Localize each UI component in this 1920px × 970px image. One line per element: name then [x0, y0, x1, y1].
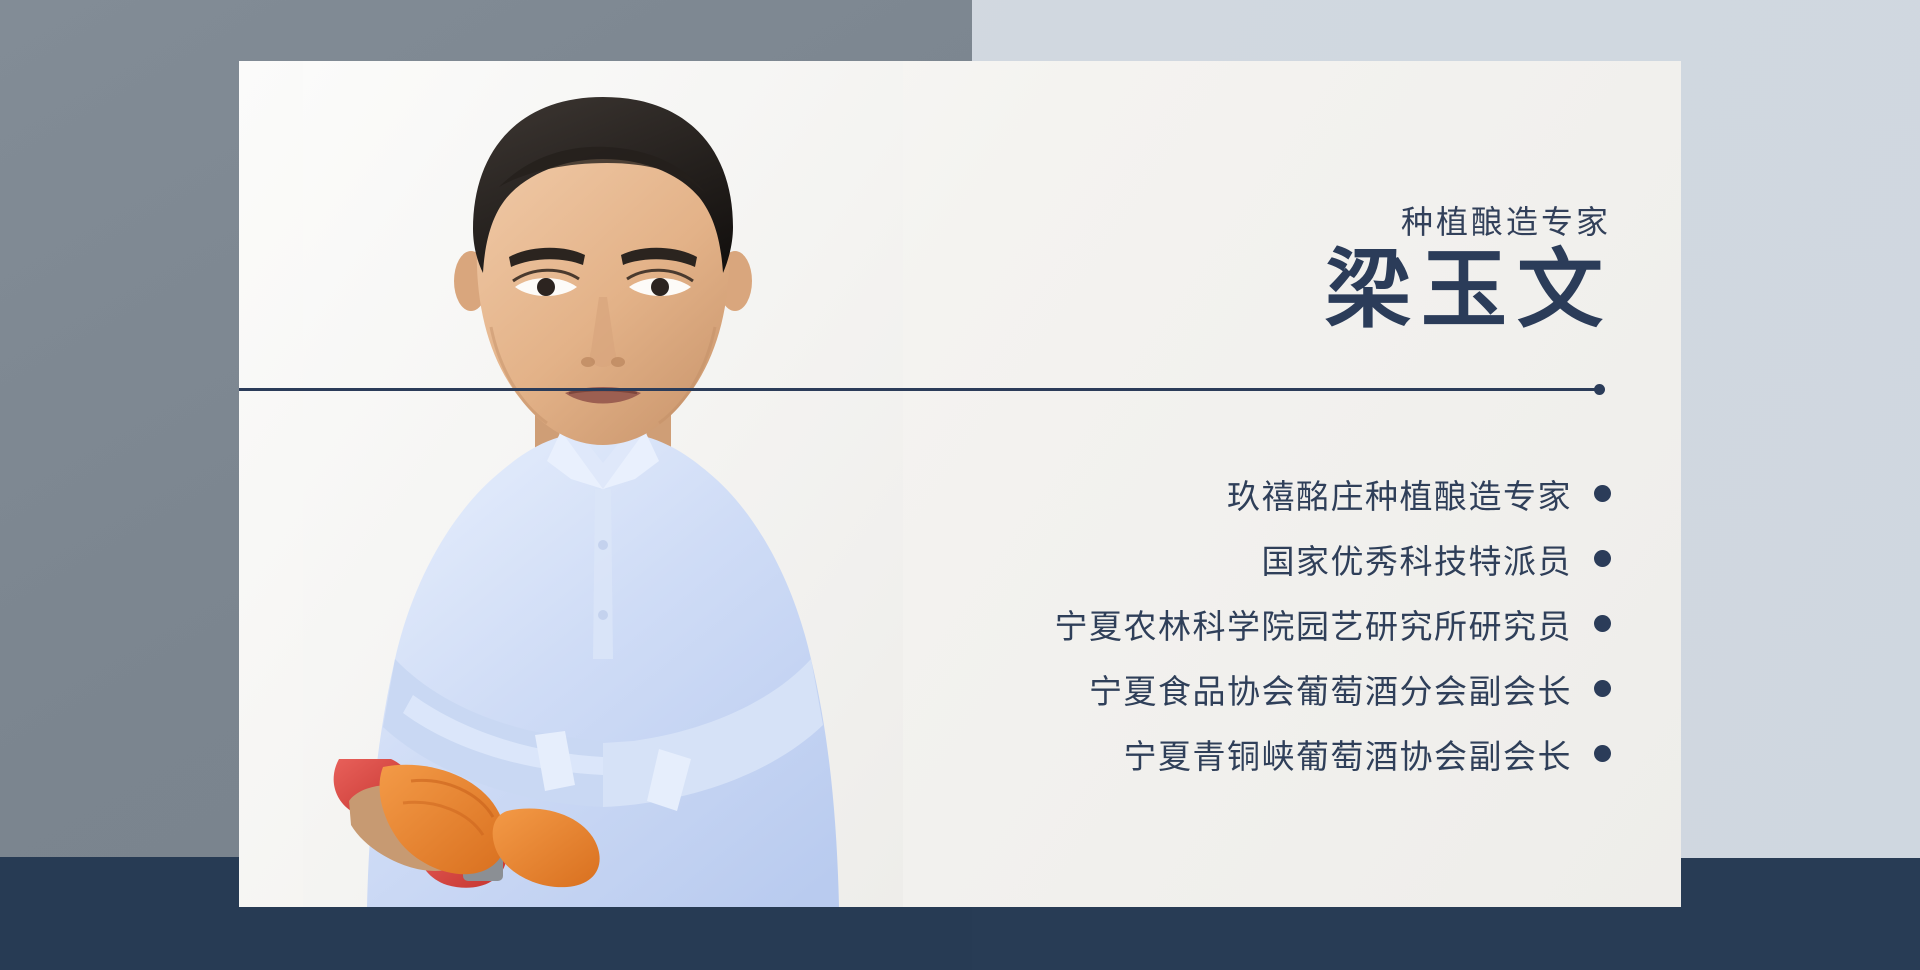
bullet-icon [1594, 615, 1611, 632]
bullet-icon [1594, 550, 1611, 567]
divider-line [239, 388, 1601, 391]
profile-name: 梁玉文 [1325, 243, 1613, 338]
credential-text: 国家优秀科技特派员 [1262, 535, 1573, 583]
credential-text: 玖禧酩庄种植酿造专家 [1227, 470, 1572, 518]
profile-info: 种植酿造专家 梁玉文 玖禧酩庄种植酿造专家 国家优秀科技特派员 宁夏农林科学院园… [711, 61, 1611, 907]
credentials-list: 玖禧酩庄种植酿造专家 国家优秀科技特派员 宁夏农林科学院园艺研究所研究员 宁夏食… [711, 461, 1611, 786]
list-item: 国家优秀科技特派员 [711, 526, 1611, 591]
list-item: 宁夏青铜峡葡萄酒协会副会长 [711, 721, 1611, 786]
list-item: 宁夏食品协会葡萄酒分会副会长 [711, 656, 1611, 721]
list-item: 玖禧酩庄种植酿造专家 [711, 461, 1611, 526]
bullet-icon [1594, 745, 1611, 762]
divider-end-dot [1594, 384, 1605, 395]
divider [239, 383, 1613, 395]
bullet-icon [1594, 680, 1611, 697]
bullet-icon [1594, 485, 1611, 502]
credential-text: 宁夏农林科学院园艺研究所研究员 [1055, 600, 1573, 648]
credential-text: 宁夏食品协会葡萄酒分会副会长 [1089, 665, 1572, 713]
profile-subtitle: 种植酿造专家 [1401, 197, 1611, 243]
poster-canvas: 种植酿造专家 梁玉文 玖禧酩庄种植酿造专家 国家优秀科技特派员 宁夏农林科学院园… [0, 0, 1920, 970]
profile-card: 种植酿造专家 梁玉文 玖禧酩庄种植酿造专家 国家优秀科技特派员 宁夏农林科学院园… [239, 61, 1681, 907]
list-item: 宁夏农林科学院园艺研究所研究员 [711, 591, 1611, 656]
credential-text: 宁夏青铜峡葡萄酒协会副会长 [1124, 730, 1573, 778]
